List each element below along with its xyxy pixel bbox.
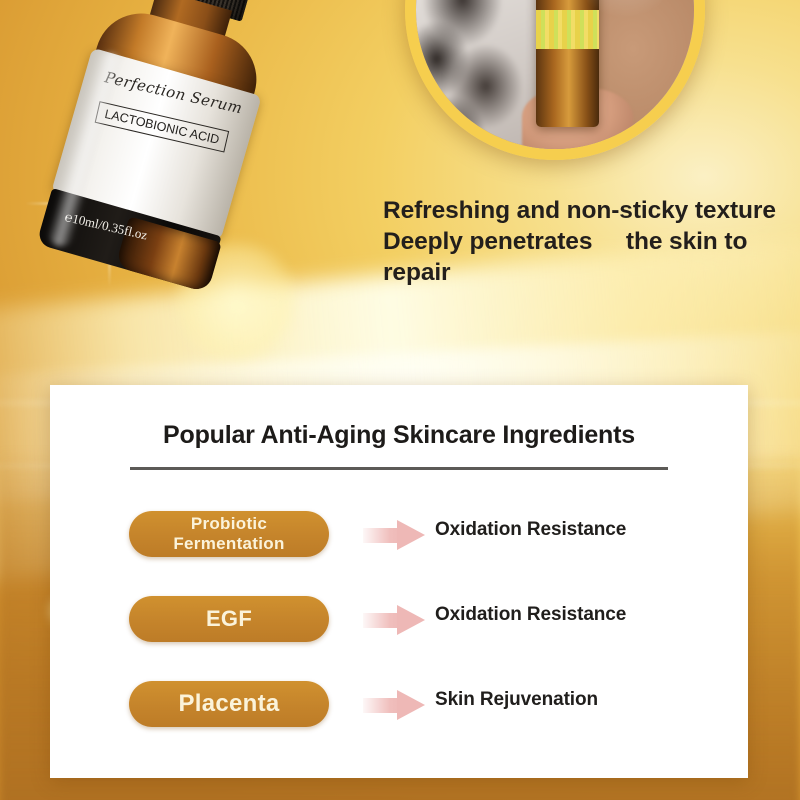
ingredient-pill[interactable]: EGF	[129, 596, 329, 642]
ingredients-card: Popular Anti-Aging Skincare Ingredients …	[50, 385, 748, 778]
headline-line-3: repair	[383, 258, 791, 289]
ingredient-row: Probiotic Fermentation Oxidation Resista…	[50, 503, 748, 588]
ingredient-rows: Probiotic Fermentation Oxidation Resista…	[50, 503, 748, 758]
benefit-label: Skin Rejuvenation	[435, 689, 598, 711]
ingredient-pill[interactable]: Probiotic Fermentation	[129, 511, 329, 557]
arrow-right-icon	[363, 520, 425, 550]
headline-line-1: Refreshing and non-sticky texture	[383, 196, 791, 227]
inset-bottle-label-band	[536, 10, 600, 49]
benefit-label: Oxidation Resistance	[435, 604, 626, 626]
arrow-right-icon	[363, 605, 425, 635]
inset-photo-background	[416, 0, 694, 149]
ingredient-row: Placenta Skin Rejuvenation	[50, 673, 748, 758]
card-divider	[130, 467, 668, 470]
benefit-label: Oxidation Resistance	[435, 519, 626, 541]
hero-headline: Refreshing and non-sticky texture Deeply…	[383, 196, 791, 289]
ingredient-row: EGF Oxidation Resistance	[50, 588, 748, 673]
ingredient-pill[interactable]: Placenta	[129, 681, 329, 727]
headline-line-2: Deeply penetrates the skin to	[383, 227, 791, 258]
marketing-image: Perfection Serum LACTOBIONIC ACID ℮10ml/…	[0, 0, 800, 800]
card-title: Popular Anti-Aging Skincare Ingredients	[50, 421, 748, 450]
arrow-right-icon	[363, 690, 425, 720]
circle-inset-photo	[405, 0, 705, 160]
